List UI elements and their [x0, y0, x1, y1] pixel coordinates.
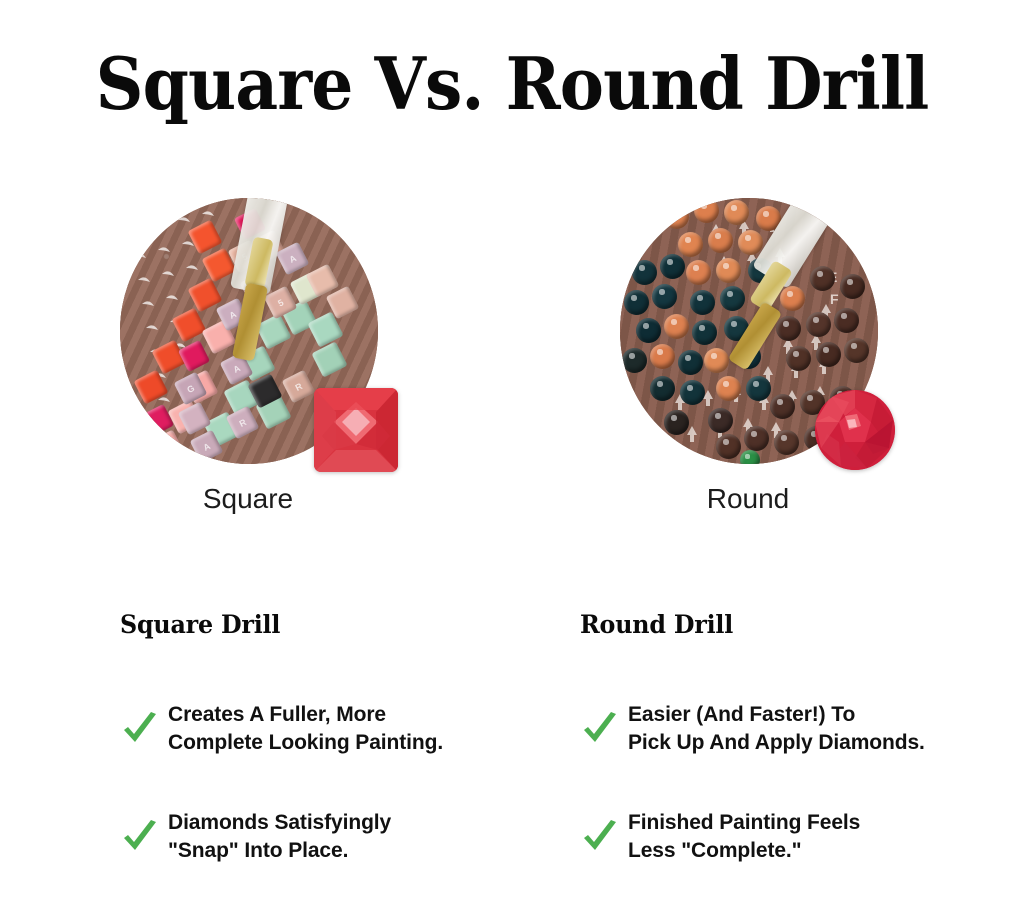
square-gem-facets: [314, 388, 398, 472]
square-drill-photo-panel: 5 5 A 5 5 A A G R A R: [114, 198, 382, 468]
page-title: Square Vs. Round Drill: [41, 48, 983, 120]
check-icon: [120, 709, 160, 749]
round-drill-column: Round Drill Easier (And Faster!) To Pick…: [580, 610, 1000, 917]
check-icon: [580, 817, 620, 857]
round-drill-photo-panel: E F: [614, 198, 882, 468]
square-gem: [314, 388, 398, 472]
bullet-text: Diamonds Satisfyingly "Snap" Into Place.: [168, 809, 391, 865]
bullet-text: Finished Painting Feels Less "Complete.": [628, 809, 860, 865]
check-icon: [120, 817, 160, 857]
column-heading-round: Round Drill: [580, 610, 979, 639]
check-icon: [580, 709, 620, 749]
bullet-item: Easier (And Faster!) To Pick Up And Appl…: [580, 701, 1000, 757]
bullet-item: Finished Painting Feels Less "Complete.": [580, 809, 1000, 865]
square-drill-column: Square Drill Creates A Fuller, More Comp…: [120, 610, 540, 917]
bullet-text: Easier (And Faster!) To Pick Up And Appl…: [628, 701, 925, 757]
round-gem: [815, 390, 895, 470]
bullet-item: Diamonds Satisfyingly "Snap" Into Place.: [120, 809, 540, 865]
bullet-item: Creates A Fuller, More Complete Looking …: [120, 701, 540, 757]
column-heading-square: Square Drill: [120, 610, 519, 639]
bullet-text: Creates A Fuller, More Complete Looking …: [168, 701, 443, 757]
photo-label-round: Round: [614, 483, 882, 515]
round-gem-facets: [815, 390, 895, 470]
photo-label-square: Square: [114, 483, 382, 515]
